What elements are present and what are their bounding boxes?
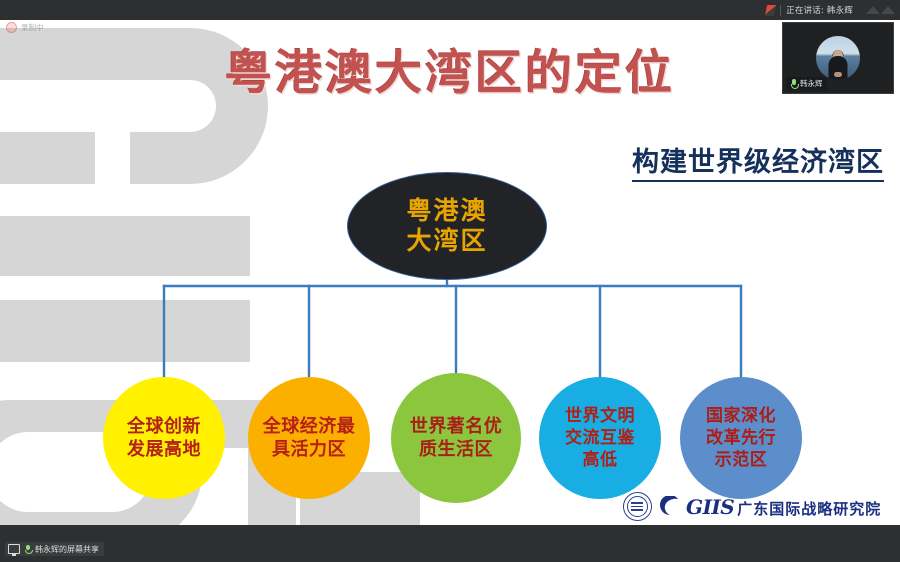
chevron-collapse-icon[interactable]	[866, 6, 895, 14]
participant-video-tile[interactable]: 韩永辉	[782, 22, 894, 94]
screen-share-status-chip: 韩永辉的屏幕共享	[5, 542, 104, 556]
root-node: 粤港澳 大湾区	[347, 172, 547, 280]
node-civilization-exchange: 世界文明 交流互鉴 高低	[539, 377, 661, 499]
node-line-2: 交流互鉴	[565, 427, 635, 449]
top-bar-right-group: 正在讲话: 韩永辉	[766, 0, 900, 20]
logo-chinese-name: 广东国际战略研究院	[737, 498, 881, 519]
node-line-1: 世界著名优	[410, 415, 503, 438]
participant-name-label: 韩永辉	[800, 78, 823, 89]
node-reform-demonstration-zone: 国家深化 改革先行 示范区	[680, 377, 802, 499]
slide-subtitle: 构建世界级经济湾区	[632, 140, 884, 182]
node-line-2: 具活力区	[272, 438, 346, 461]
institute-logo: GIIS 广东国际战略研究院	[623, 492, 881, 521]
logo-acronym: GIIS	[686, 495, 734, 519]
node-line-1: 全球创新	[127, 415, 201, 438]
node-global-innovation: 全球创新 发展高地	[103, 377, 225, 499]
screen-share-icon	[8, 544, 20, 554]
avatar	[816, 36, 860, 80]
recording-label: 录制中	[21, 22, 44, 33]
participant-name-badge: 韩永辉	[786, 77, 827, 90]
logo-text-group: GIIS 广东国际战略研究院	[686, 495, 881, 519]
root-node-line-2: 大湾区	[406, 226, 487, 257]
zoom-meeting-window: 正在讲话: 韩永辉 韩永辉 录制中	[0, 0, 900, 562]
screen-share-status-label: 韩永辉的屏幕共享	[35, 544, 99, 555]
node-most-dynamic-economy: 全球经济最 具活力区	[248, 377, 370, 499]
node-quality-living-area: 世界著名优 质生活区	[391, 373, 521, 503]
meeting-bottom-bar: 韩永辉的屏幕共享	[0, 525, 900, 562]
shared-screen-slide: 录制中 粤港澳大湾区的定位 构建世界级经济湾区	[0, 20, 900, 525]
university-seal-icon	[623, 492, 652, 521]
microphone-icon	[790, 79, 797, 88]
meeting-top-bar: 正在讲话: 韩永辉	[0, 0, 900, 20]
node-line-2: 改革先行	[706, 427, 776, 449]
microphone-icon	[24, 545, 31, 554]
node-line-2: 质生活区	[419, 438, 493, 461]
node-line-1: 全球经济最	[263, 415, 356, 438]
avatar-hands	[834, 72, 842, 77]
node-line-2: 发展高地	[127, 438, 201, 461]
node-line-1: 国家深化	[706, 405, 776, 427]
root-node-line-1: 粤港澳	[406, 196, 487, 227]
divider	[780, 5, 781, 16]
giis-swoosh-icon	[658, 496, 680, 517]
node-line-1: 世界文明	[565, 405, 635, 427]
zoom-logo-icon	[765, 5, 776, 16]
node-line-3: 示范区	[715, 449, 768, 471]
recording-indicator: 录制中	[6, 22, 44, 33]
node-line-3: 高低	[583, 449, 618, 471]
record-dot-icon	[6, 22, 17, 33]
speaking-status-chip: 正在讲话: 韩永辉	[766, 0, 853, 20]
page-title: 粤港澳大湾区的定位	[0, 50, 900, 97]
speaking-status-label: 正在讲话: 韩永辉	[786, 4, 853, 16]
